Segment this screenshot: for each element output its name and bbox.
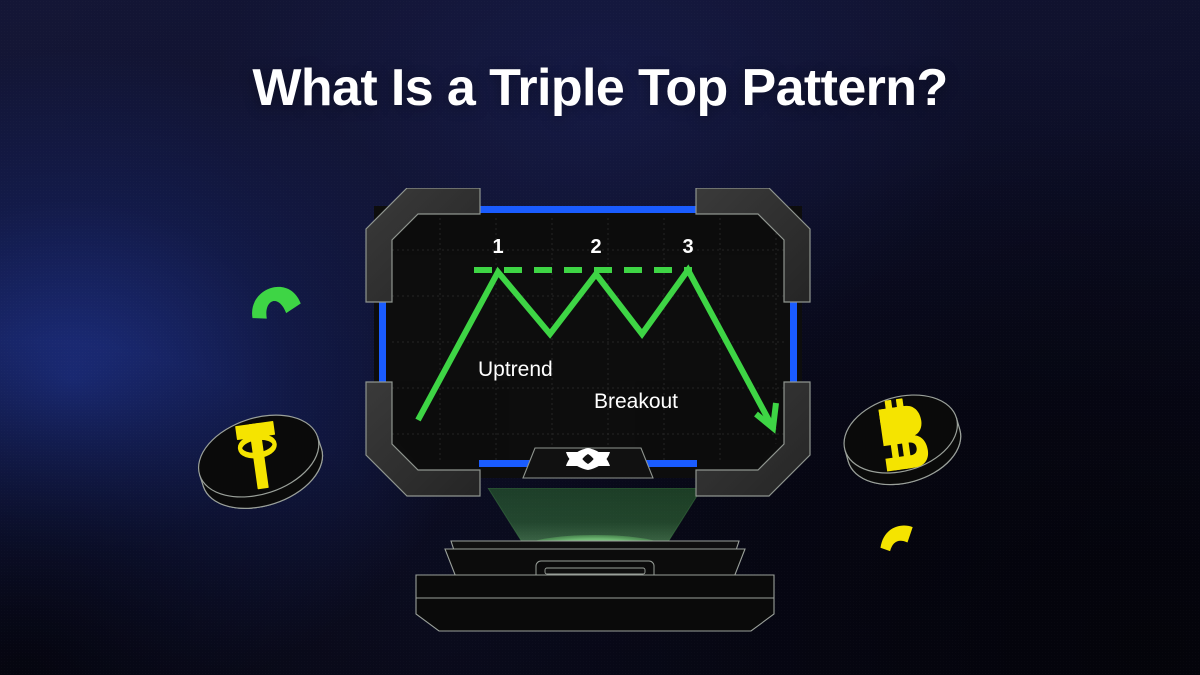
monitor-logo-tab — [523, 448, 653, 478]
screenshot-root: What Is a Triple Top Pattern? — [0, 0, 1200, 675]
tether-coin — [186, 396, 332, 518]
blue-strip-bottom-right — [641, 460, 697, 467]
peak-2-label: 2 — [590, 236, 601, 258]
monitor-stand-group — [395, 488, 795, 638]
page-title: What Is a Triple Top Pattern? — [0, 60, 1200, 117]
blue-strip-bottom-left — [479, 460, 535, 467]
peak-3-label: 3 — [682, 236, 693, 258]
breakout-label: Breakout — [594, 390, 678, 413]
yellow-arc-accent — [878, 520, 916, 556]
peak-1-label: 1 — [492, 236, 503, 258]
monitor-base-lower — [416, 575, 774, 631]
monitor-device: 1 2 3 Uptrend Breakout — [352, 188, 824, 508]
blue-strip-top — [477, 206, 717, 213]
bitcoin-coin — [834, 372, 968, 498]
green-arc-accent — [243, 268, 305, 324]
uptrend-label: Uptrend — [478, 358, 553, 381]
